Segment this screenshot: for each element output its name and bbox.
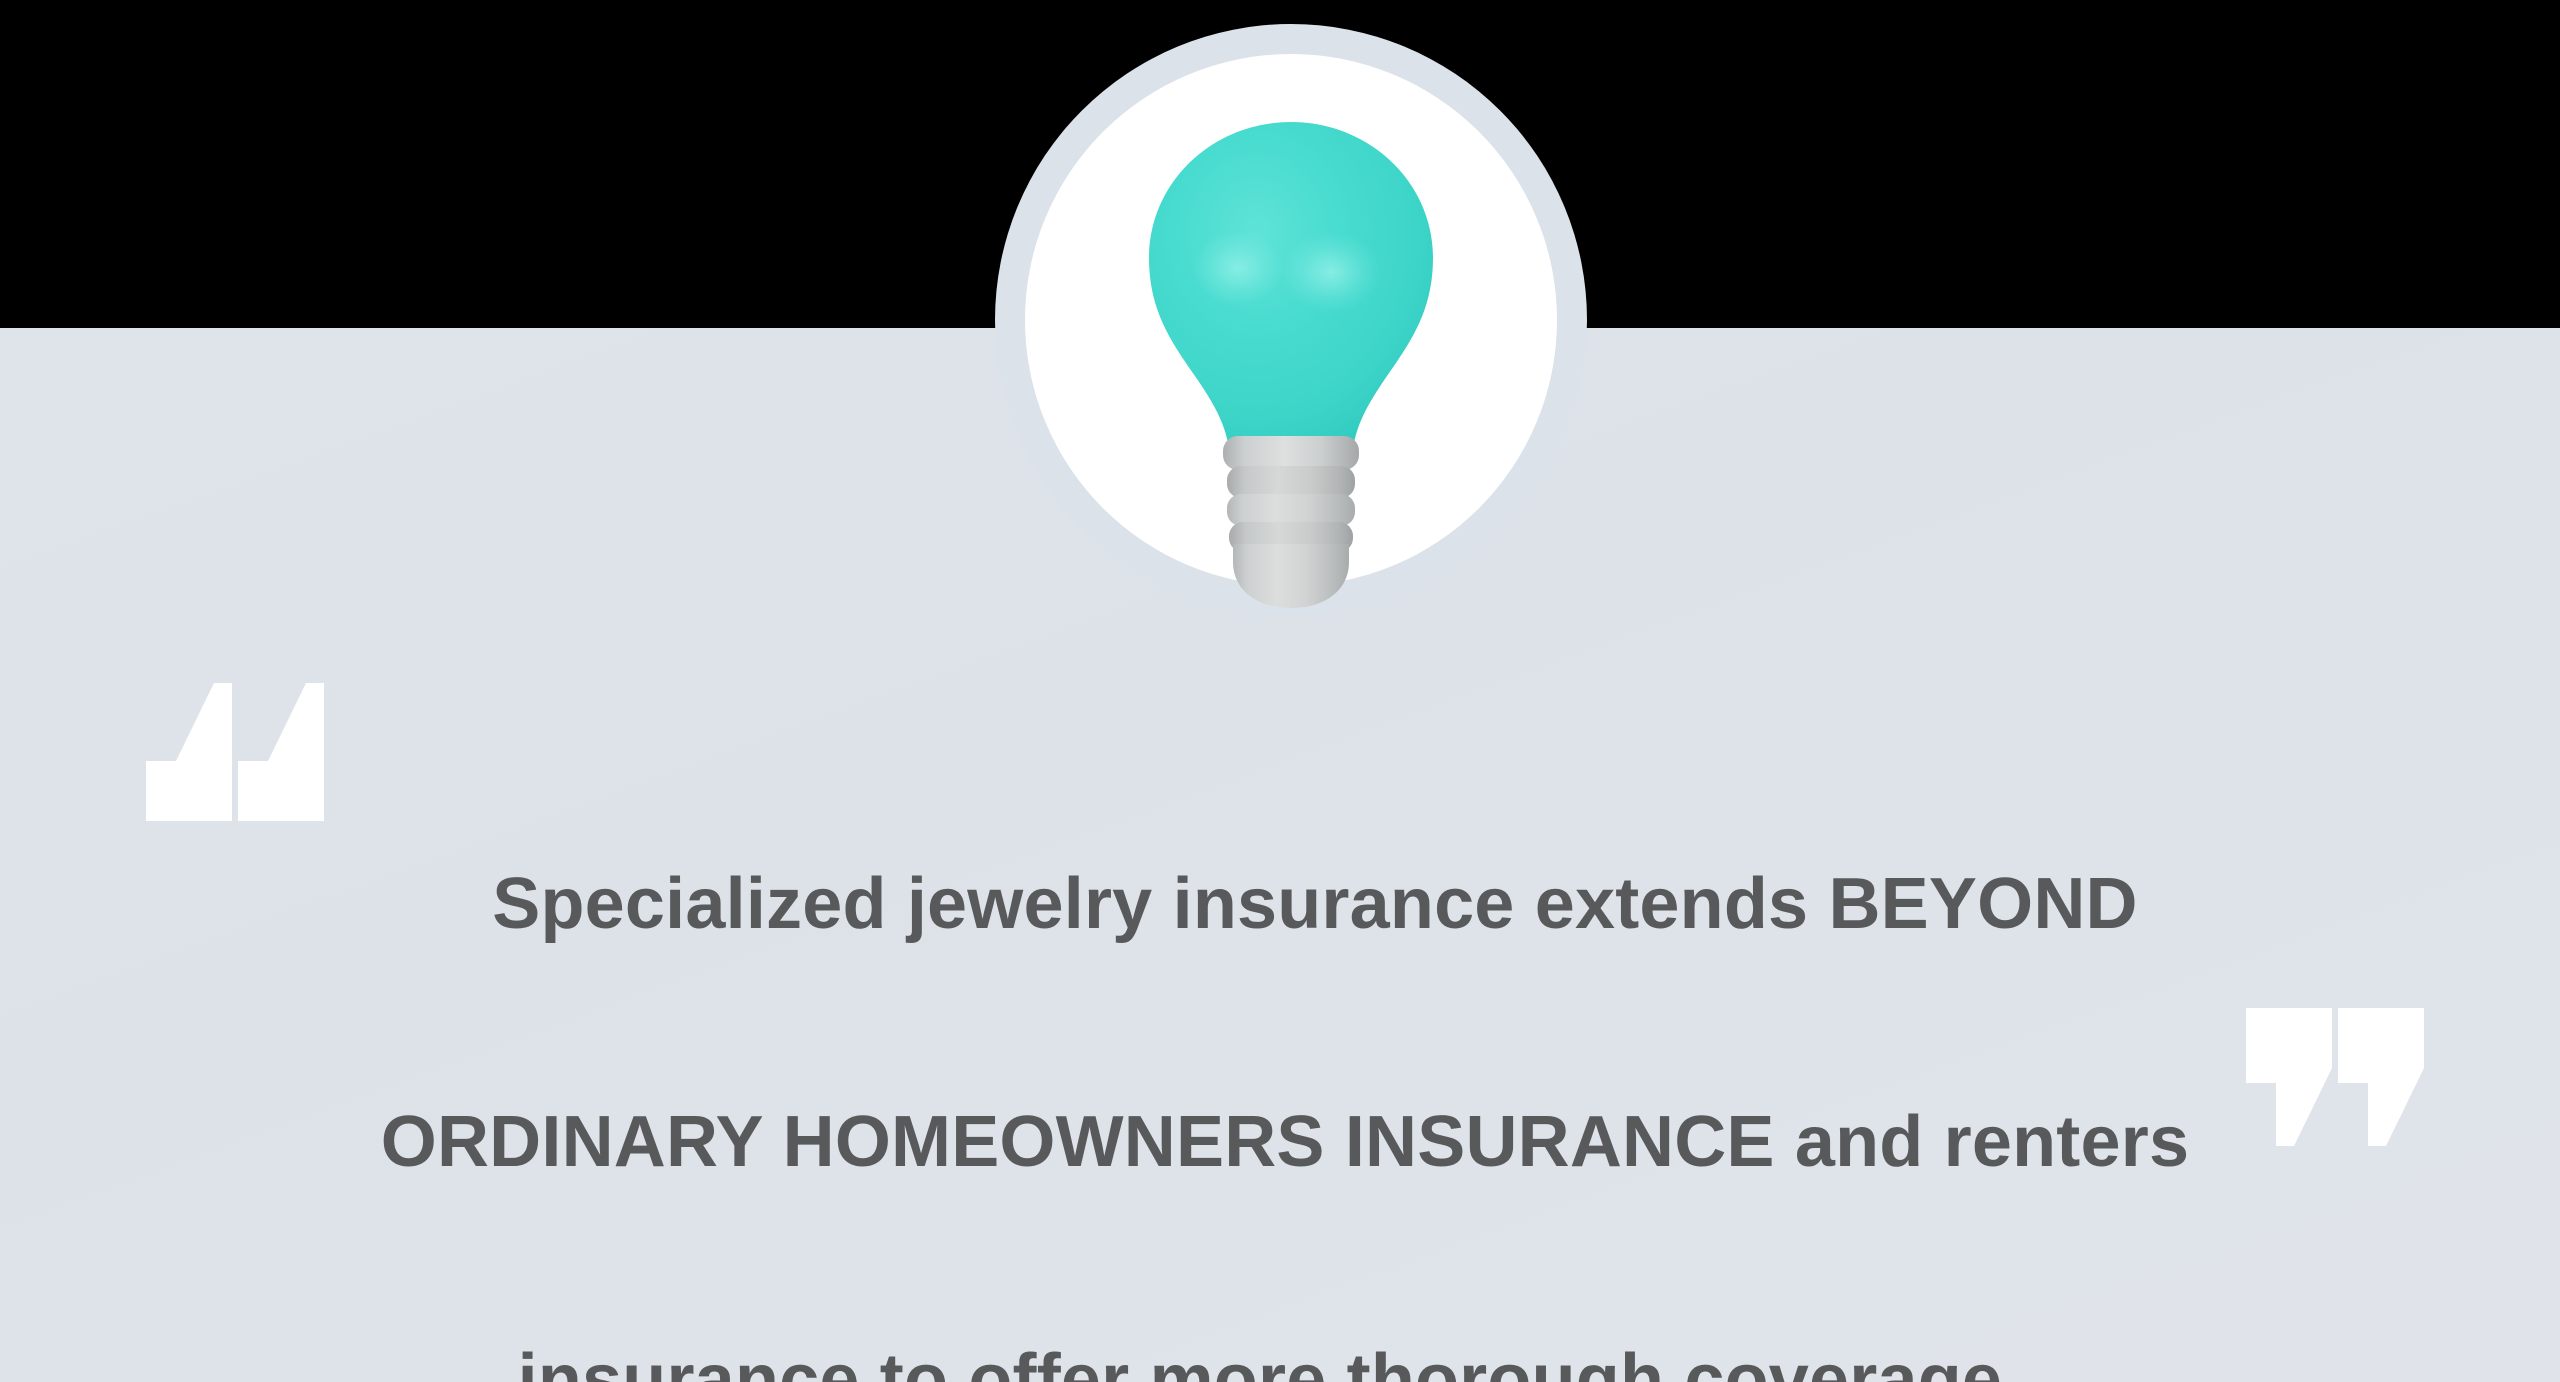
quote-line-1: Specialized jewelry insurance extends BE… bbox=[180, 845, 2390, 964]
quote-line-2: ORDINARY HOMEOWNERS INSURANCE and renter… bbox=[180, 1083, 2390, 1202]
quote-text: Specialized jewelry insurance extends BE… bbox=[180, 726, 2390, 1382]
icon-medallion bbox=[995, 24, 1587, 616]
closing-quote-icon bbox=[2238, 1008, 2438, 1146]
quote-line-3: insurance to offer more thorough coverag… bbox=[180, 1321, 2390, 1382]
quote-callout-card: Specialized jewelry insurance extends BE… bbox=[0, 0, 2560, 1382]
lightbulb-3d-icon bbox=[995, 24, 1587, 616]
